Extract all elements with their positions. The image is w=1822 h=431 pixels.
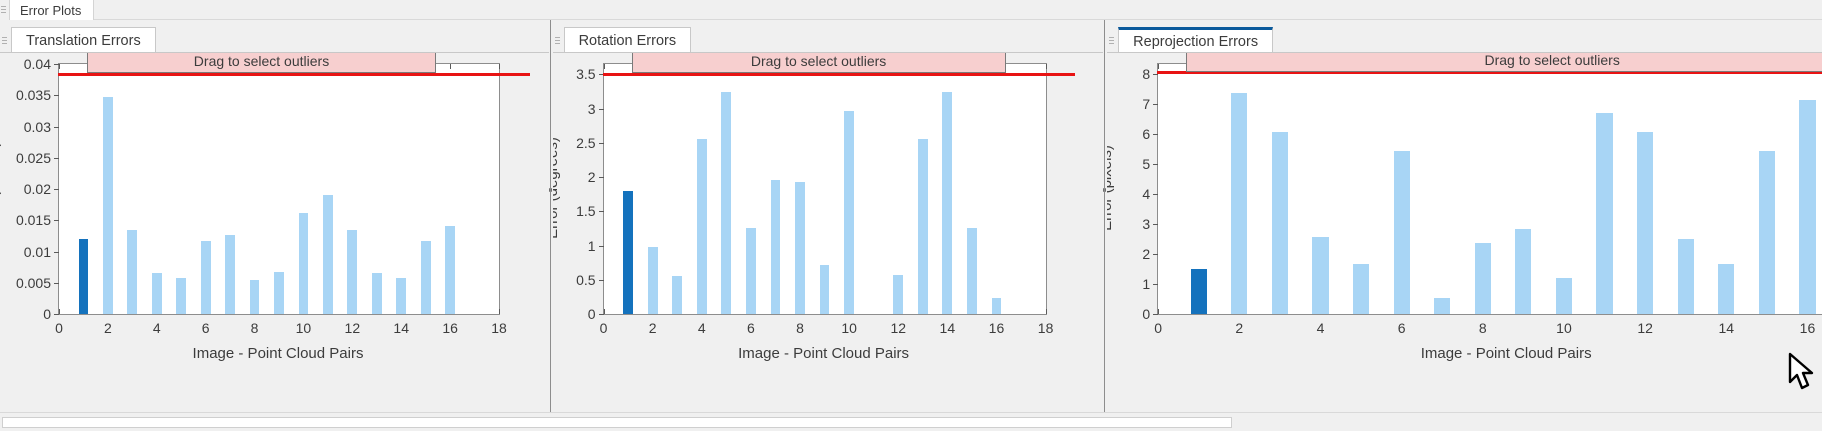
bar[interactable] <box>396 278 406 314</box>
y-tick-label: 0.005 <box>16 275 51 291</box>
outlier-band-label: Drag to select outliers <box>751 53 886 69</box>
bar[interactable] <box>1394 151 1410 314</box>
x-tick-label: 6 <box>747 320 755 336</box>
y-tick-label: 5 <box>1142 156 1150 172</box>
splitter-2-thumb[interactable] <box>1103 188 1106 192</box>
tab-translation-errors[interactable]: Translation Errors <box>11 27 156 53</box>
y-tick <box>599 109 604 110</box>
x-tick-label: 6 <box>1398 320 1406 336</box>
axes-translation[interactable]: 00.0050.010.0150.020.0250.030.0350.04024… <box>58 63 500 315</box>
y-tick-label: 0.01 <box>24 244 51 260</box>
x-tick-label: 12 <box>345 320 361 336</box>
bar[interactable] <box>1637 132 1653 314</box>
y-tick <box>54 314 59 315</box>
bar[interactable] <box>648 247 658 314</box>
mouse-cursor-icon <box>1786 352 1820 398</box>
y-tick-label: 0.5 <box>576 272 595 288</box>
bar[interactable] <box>697 139 707 314</box>
x-tick-label: 16 <box>989 320 1005 336</box>
axes-reprojection[interactable]: 0123456780246810121416Drag to select out… <box>1157 63 1822 315</box>
bar[interactable] <box>844 111 854 314</box>
drag-to-select-outliers-band[interactable]: Drag to select outliers <box>1186 53 1822 72</box>
y-tick <box>1153 254 1158 255</box>
bar[interactable] <box>1312 237 1328 314</box>
x-tick-label: 14 <box>393 320 409 336</box>
panel-tabbar-rotation: Rotation Errors <box>553 20 1104 53</box>
y-tick-label: 7 <box>1142 96 1150 112</box>
y-tick-label: 0.04 <box>24 56 51 72</box>
y-tick-label: 0.025 <box>16 150 51 166</box>
x-tick-label: 8 <box>251 320 259 336</box>
axes-rotation[interactable]: 00.511.522.533.5024681012141618Drag to s… <box>603 63 1047 315</box>
y-tick-label: 0 <box>1142 306 1150 322</box>
x-tick-label: 16 <box>1800 320 1816 336</box>
x-tick-label: 16 <box>442 320 458 336</box>
x-tick-top <box>450 64 451 69</box>
drag-to-select-outliers-band[interactable]: Drag to select outliers <box>632 53 1006 73</box>
panel-tabbar-translation: Translation Errors <box>0 20 549 53</box>
bar[interactable] <box>1191 269 1207 314</box>
bar[interactable] <box>250 280 260 314</box>
bar[interactable] <box>1678 239 1694 314</box>
x-tick-label: 18 <box>491 320 507 336</box>
y-tick <box>1153 104 1158 105</box>
y-tick <box>599 280 604 281</box>
tab-rotation-errors[interactable]: Rotation Errors <box>564 27 692 53</box>
panel-rotation-errors: Rotation Errors 00.511.522.533.502468101… <box>553 20 1104 412</box>
bar[interactable] <box>1434 298 1450 314</box>
error-plots-window: Error Plots Translation Errors 00.0050.0… <box>0 0 1822 430</box>
y-tick <box>599 211 604 212</box>
outlier-band-label: Drag to select outliers <box>194 53 329 69</box>
y-tick-label: 0 <box>43 306 51 322</box>
tab-translation-errors-label: Translation Errors <box>26 33 141 49</box>
bar[interactable] <box>176 278 186 314</box>
panel-tabbar-reprojection: Reprojection Errors <box>1107 20 1822 53</box>
y-tick-label: 2 <box>1142 246 1150 262</box>
y-tick <box>1153 74 1158 75</box>
x-tick-label: 4 <box>698 320 706 336</box>
y-tick <box>54 158 59 159</box>
ylabel-translation: Error (meters) <box>0 141 2 234</box>
x-tick-label: 10 <box>296 320 312 336</box>
y-tick-label: 6 <box>1142 126 1150 142</box>
y-tick <box>1153 284 1158 285</box>
panel-tab-grip-icon[interactable] <box>554 34 561 48</box>
ylabel-rotation: Error (degrees) <box>553 137 561 239</box>
x-tick-label: 2 <box>1235 320 1243 336</box>
outlier-threshold-line[interactable] <box>603 73 1075 76</box>
y-tick <box>599 143 604 144</box>
bar[interactable] <box>103 97 113 315</box>
document-tab-strip: Error Plots <box>0 0 1822 20</box>
x-tick-label: 12 <box>890 320 906 336</box>
bar[interactable] <box>820 265 830 314</box>
bar[interactable] <box>672 276 682 314</box>
bar[interactable] <box>1799 100 1815 314</box>
y-tick <box>54 95 59 96</box>
y-tick <box>599 177 604 178</box>
x-tick <box>604 309 605 314</box>
y-tick-label: 1 <box>1142 276 1150 292</box>
x-tick <box>499 309 500 314</box>
document-tab-error-plots[interactable]: Error Plots <box>9 0 94 20</box>
x-tick-top <box>1046 64 1047 69</box>
bar[interactable] <box>225 235 235 314</box>
panel-tab-grip-icon[interactable] <box>1 34 8 48</box>
bar[interactable] <box>299 213 309 314</box>
xlabel-rotation: Image - Point Cloud Pairs <box>738 345 909 362</box>
panel-tab-grip-icon[interactable] <box>1108 34 1115 48</box>
bar[interactable] <box>1718 264 1734 314</box>
y-tick <box>54 189 59 190</box>
plot-area-translation: 00.0050.010.0150.020.0250.030.0350.04024… <box>0 53 549 412</box>
y-tick-label: 0.03 <box>24 119 51 135</box>
plot-panels-container: Translation Errors 00.0050.010.0150.020.… <box>0 20 1822 412</box>
bar[interactable] <box>323 195 333 314</box>
x-tick-label: 6 <box>202 320 210 336</box>
y-tick-label: 0.035 <box>16 87 51 103</box>
y-tick-label: 0.015 <box>16 212 51 228</box>
y-tick <box>599 246 604 247</box>
xlabel-translation: Image - Point Cloud Pairs <box>193 345 364 362</box>
x-tick-label: 2 <box>104 320 112 336</box>
x-tick-label: 0 <box>55 320 63 336</box>
bar[interactable] <box>893 275 903 314</box>
x-tick-label: 4 <box>1317 320 1325 336</box>
x-tick-label: 8 <box>796 320 804 336</box>
y-tick-label: 3.5 <box>576 66 595 82</box>
x-tick-label: 0 <box>1154 320 1162 336</box>
bar[interactable] <box>1556 278 1572 314</box>
tab-reprojection-errors-label: Reprojection Errors <box>1133 34 1258 50</box>
x-tick-label: 18 <box>1038 320 1054 336</box>
outlier-band-label: Drag to select outliers <box>1484 53 1619 68</box>
bar[interactable] <box>771 180 781 314</box>
bar[interactable] <box>274 272 284 315</box>
bar[interactable] <box>623 191 633 314</box>
x-tick <box>1046 309 1047 314</box>
x-tick-label: 0 <box>600 320 608 336</box>
y-tick <box>54 252 59 253</box>
bar[interactable] <box>445 226 455 314</box>
x-tick-top <box>59 64 60 69</box>
y-tick <box>54 127 59 128</box>
x-tick <box>1158 309 1159 314</box>
bar[interactable] <box>79 239 89 314</box>
splitter-1-thumb[interactable] <box>549 188 552 192</box>
bar[interactable] <box>372 273 382 314</box>
bar[interactable] <box>127 230 137 314</box>
bar[interactable] <box>992 298 1002 314</box>
y-tick <box>54 283 59 284</box>
bar[interactable] <box>721 92 731 314</box>
x-tick-label: 10 <box>841 320 857 336</box>
y-tick-label: 4 <box>1142 186 1150 202</box>
y-tick <box>54 220 59 221</box>
bar[interactable] <box>1475 243 1491 314</box>
y-tick <box>1153 194 1158 195</box>
outlier-threshold-line[interactable] <box>1157 71 1822 74</box>
plot-area-reprojection: 0123456780246810121416Drag to select out… <box>1107 53 1822 412</box>
x-tick-label: 2 <box>649 320 657 336</box>
y-tick-label: 2 <box>588 169 596 185</box>
bar[interactable] <box>152 273 162 314</box>
x-tick-top <box>499 64 500 69</box>
y-tick <box>1153 224 1158 225</box>
bar[interactable] <box>1596 113 1612 314</box>
ylabel-reprojection: Error (pixels) <box>1107 145 1115 231</box>
bar[interactable] <box>746 228 756 314</box>
x-tick-label: 4 <box>153 320 161 336</box>
y-tick-label: 0.02 <box>24 181 51 197</box>
y-tick-label: 0 <box>588 306 596 322</box>
y-tick <box>1153 164 1158 165</box>
bar[interactable] <box>1272 132 1288 314</box>
x-tick-top <box>1158 64 1159 69</box>
y-tick <box>1153 314 1158 315</box>
y-tick-label: 3 <box>1142 216 1150 232</box>
x-tick-label: 8 <box>1479 320 1487 336</box>
bar[interactable] <box>421 241 431 314</box>
x-tick-top <box>604 64 605 69</box>
bar[interactable] <box>967 228 977 314</box>
x-tick-label: 10 <box>1556 320 1572 336</box>
y-tick-label: 3 <box>588 101 596 117</box>
panel-reprojection-errors: Reprojection Errors 01234567802468101214… <box>1107 20 1822 412</box>
bar[interactable] <box>201 241 211 314</box>
x-tick-label: 14 <box>1718 320 1734 336</box>
y-tick-label: 1 <box>588 238 596 254</box>
outlier-threshold-line[interactable] <box>58 73 530 76</box>
xlabel-reprojection: Image - Point Cloud Pairs <box>1421 345 1592 362</box>
y-tick-label: 2.5 <box>576 135 595 151</box>
bar[interactable] <box>1353 264 1369 314</box>
y-tick-label: 8 <box>1142 66 1150 82</box>
bar[interactable] <box>1231 93 1247 314</box>
document-tab-label: Error Plots <box>20 3 81 18</box>
tab-rotation-errors-label: Rotation Errors <box>579 33 677 49</box>
plot-area-rotation: 00.511.522.533.5024681012141618Drag to s… <box>553 53 1104 412</box>
horizontal-scrollbar[interactable] <box>2 417 1232 428</box>
document-tab-grip-icon[interactable] <box>0 3 7 17</box>
bar[interactable] <box>942 92 952 314</box>
x-tick <box>59 309 60 314</box>
drag-to-select-outliers-band[interactable]: Drag to select outliers <box>87 53 436 73</box>
document-tab-strip-filler <box>94 0 1822 20</box>
y-tick <box>1153 134 1158 135</box>
tab-reprojection-errors[interactable]: Reprojection Errors <box>1118 27 1273 53</box>
bar[interactable] <box>1515 229 1531 314</box>
bar[interactable] <box>795 182 805 314</box>
x-tick-label: 14 <box>940 320 956 336</box>
panel-translation-errors: Translation Errors 00.0050.010.0150.020.… <box>0 20 549 412</box>
y-tick-label: 1.5 <box>576 203 595 219</box>
bar[interactable] <box>347 230 357 314</box>
bottom-bar <box>0 412 1822 431</box>
x-tick-label: 12 <box>1637 320 1653 336</box>
bar[interactable] <box>1759 151 1775 314</box>
y-tick <box>599 314 604 315</box>
bar[interactable] <box>918 139 928 314</box>
